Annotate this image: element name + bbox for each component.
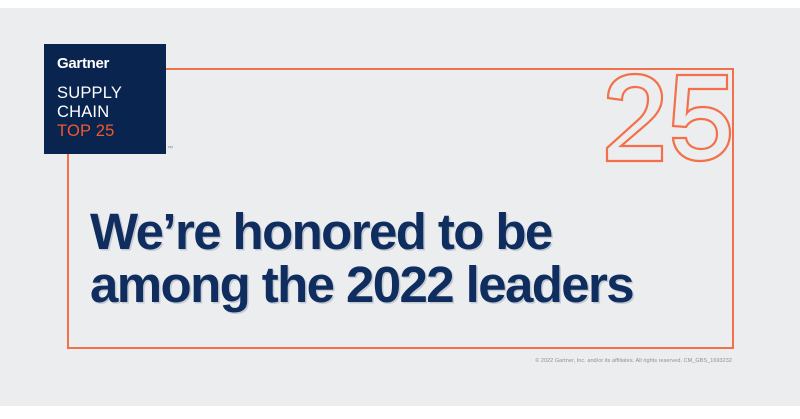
gartner-supply-chain-top25-logo: Gartner SUPPLY CHAIN TOP 25 bbox=[44, 44, 166, 154]
headline-line-1: We’re honored to be bbox=[90, 205, 730, 258]
big-25-outline-graphic bbox=[604, 72, 734, 164]
frame-top-edge bbox=[166, 68, 734, 70]
headline-line-2: among the 2022 leaders bbox=[90, 258, 730, 311]
page-title: We’re honored to be among the 2022 leade… bbox=[90, 205, 730, 311]
trademark-symbol: ™ bbox=[167, 146, 173, 152]
logo-line-top25: TOP 25 bbox=[57, 122, 166, 141]
logo-line-supply: SUPPLY bbox=[57, 84, 166, 103]
promo-graphic: Gartner SUPPLY CHAIN TOP 25 ™ We’re hono… bbox=[0, 0, 800, 419]
logo-award-name: SUPPLY CHAIN TOP 25 bbox=[57, 84, 166, 141]
gartner-wordmark: Gartner bbox=[57, 56, 166, 71]
copyright-notice: © 2022 Gartner, Inc. and/or its affiliat… bbox=[512, 358, 732, 364]
big-25-svg bbox=[604, 72, 734, 164]
frame-bottom-edge bbox=[67, 347, 734, 349]
frame-left-edge bbox=[67, 152, 69, 349]
logo-line-chain: CHAIN bbox=[57, 103, 166, 122]
